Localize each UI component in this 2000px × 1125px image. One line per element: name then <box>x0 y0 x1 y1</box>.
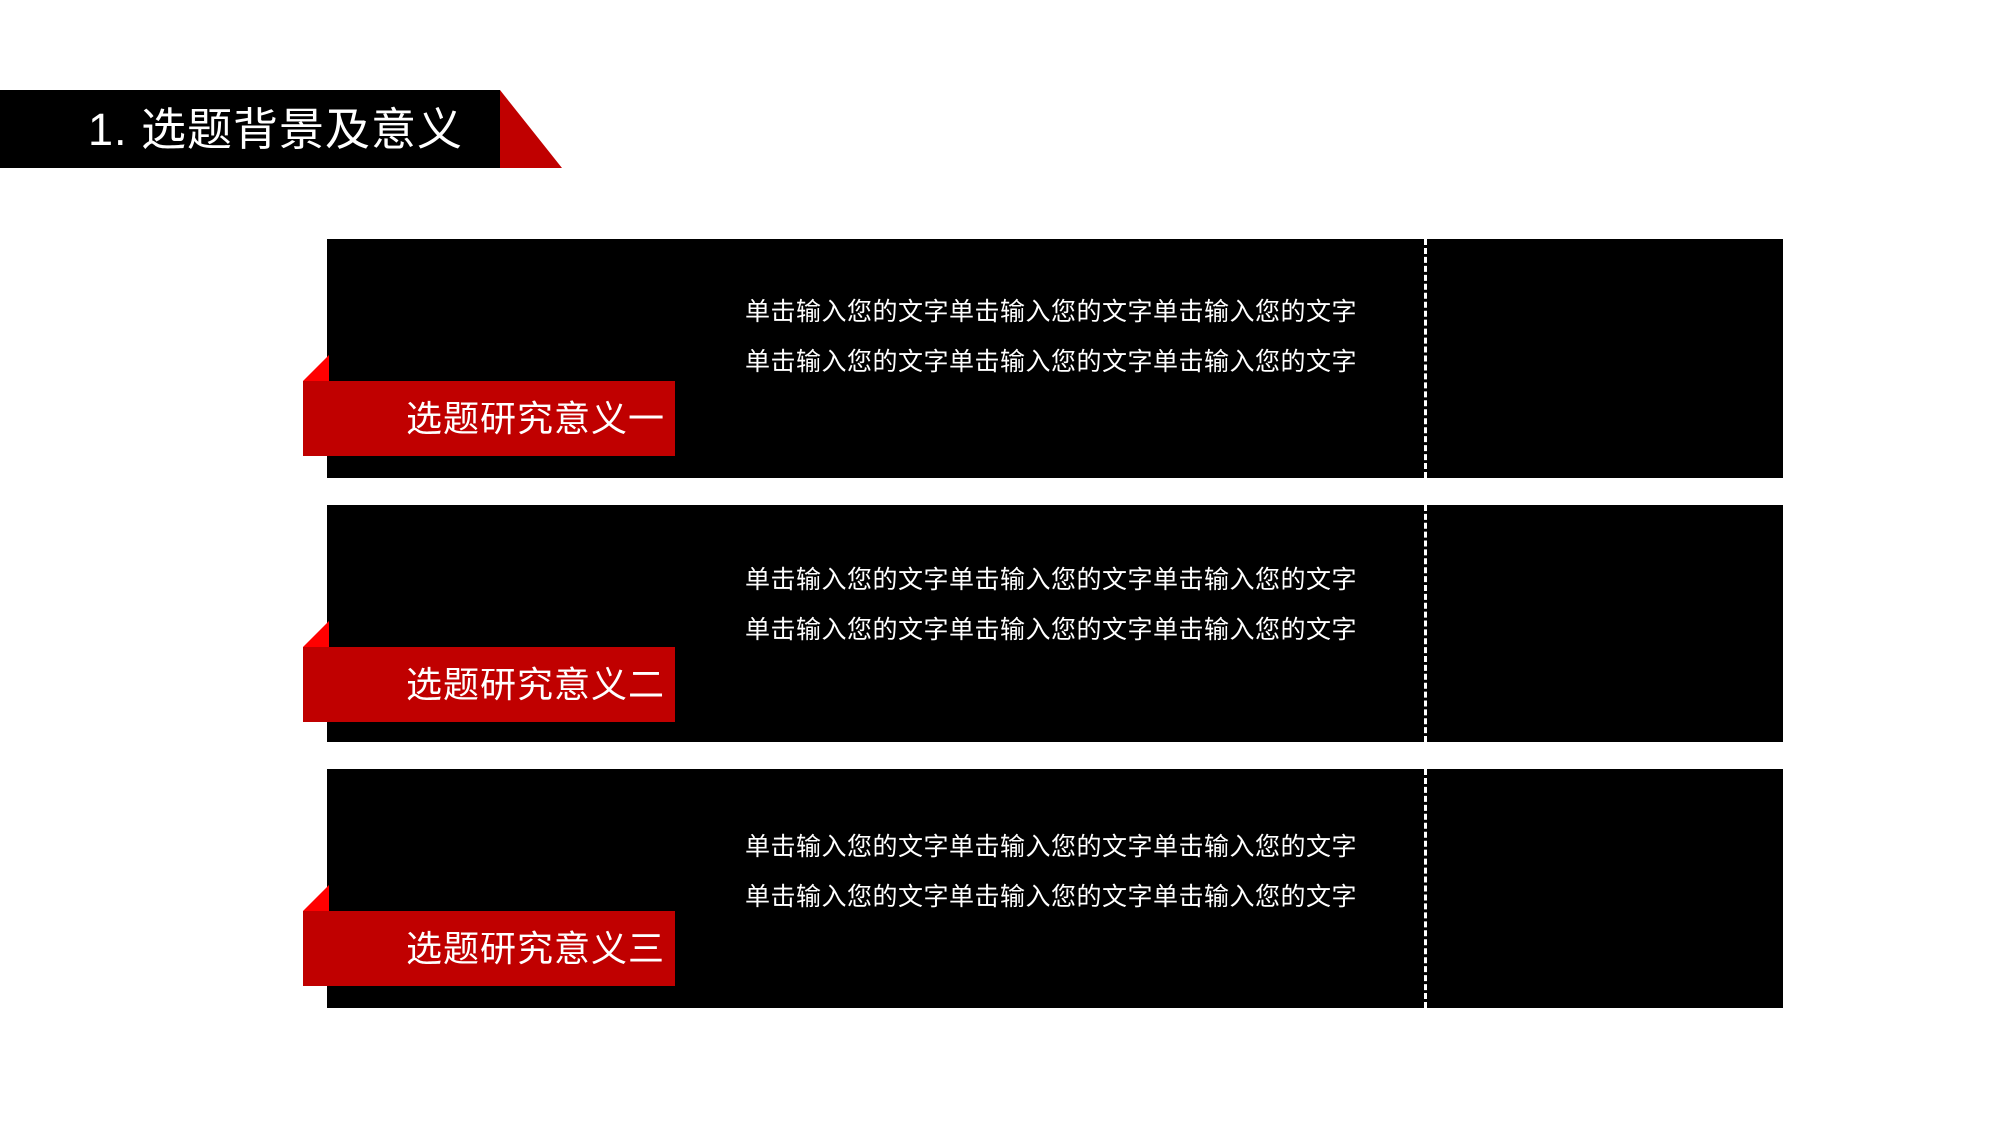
slide-title-banner: 1. 选题背景及意义 <box>0 90 500 168</box>
row-body-text: 单击输入您的文字单击输入您的文字单击输入您的文字单击输入您的文字单击输入您的文字… <box>745 822 1365 922</box>
row-body-text: 单击输入您的文字单击输入您的文字单击输入您的文字单击输入您的文字单击输入您的文字… <box>745 555 1365 655</box>
section-label-text: 选题研究意义二 <box>406 667 665 703</box>
dashed-divider <box>1424 239 1427 478</box>
ribbon-fold-icon <box>303 621 329 647</box>
section-label-ribbon[interactable]: 选题研究意义三 <box>303 911 675 986</box>
ribbon-fold-icon <box>303 355 329 381</box>
ribbon-fold-icon <box>303 885 329 911</box>
title-flag-triangle-icon <box>500 90 562 168</box>
section-label-ribbon[interactable]: 选题研究意义一 <box>303 381 675 456</box>
row-body-text: 单击输入您的文字单击输入您的文字单击输入您的文字单击输入您的文字单击输入您的文字… <box>745 287 1365 387</box>
page-title: 1. 选题背景及意义 <box>0 107 463 152</box>
dashed-divider <box>1424 769 1427 1008</box>
section-label-text: 选题研究意义一 <box>406 401 665 437</box>
slide-canvas: { "slide": { "title": "1. 选题背景及意义", "acc… <box>0 0 2000 1125</box>
section-label-ribbon[interactable]: 选题研究意义二 <box>303 647 675 722</box>
section-label-text: 选题研究意义三 <box>406 931 665 967</box>
dashed-divider <box>1424 505 1427 742</box>
